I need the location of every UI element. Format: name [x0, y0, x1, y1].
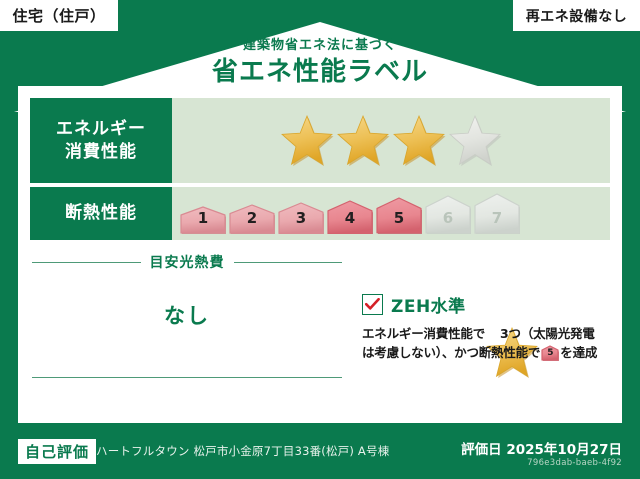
- insulation-performance-key: 断熱性能: [30, 187, 172, 240]
- star-4: [448, 114, 502, 168]
- insulation-grade-label: 4: [345, 209, 355, 234]
- energy-key-line1: エネルギー: [56, 118, 146, 141]
- star-rating: [280, 114, 502, 168]
- insulation-grade-3: 3: [278, 202, 324, 234]
- insulation-grade-label: 5: [394, 209, 404, 234]
- zeh-desc-part3: を達成: [560, 345, 597, 360]
- insulation-grade-2: 2: [229, 204, 275, 234]
- star-1: [280, 114, 334, 168]
- insulation-performance-value: 1234567: [172, 187, 610, 240]
- insulation-grade-label: 2: [247, 209, 257, 234]
- label-body-card: エネルギー 消費性能 断熱性能 1234567 目安光熱費 なし: [18, 86, 622, 423]
- utility-cost-caption-rule: 目安光熱費: [32, 252, 342, 272]
- property-name: ハートフルタウン 松戸市小金原7丁目33番(松戸) A号棟: [96, 443, 389, 459]
- utility-cost-block: 目安光熱費 なし: [32, 252, 342, 330]
- zeh-checkbox[interactable]: [362, 294, 383, 315]
- insulation-grade-scale: 1234567: [180, 193, 520, 234]
- star-2: [336, 114, 390, 168]
- inline-grade-badge-label: 5: [541, 347, 559, 361]
- dwelling-type-chip: 住宅（住戸）: [0, 0, 118, 31]
- inline-star-icon: [485, 326, 500, 341]
- document-id: 796e3dab-baeb-4f92: [527, 458, 622, 468]
- zeh-desc-part2: は考慮しない）、かつ断熱性能で: [362, 345, 540, 360]
- insulation-grade-1: 1: [180, 206, 226, 234]
- rule-right: [234, 262, 343, 263]
- insulation-grade-label: 3: [296, 209, 306, 234]
- self-evaluation-badge: 自己評価: [18, 439, 96, 464]
- check-icon: [365, 298, 380, 311]
- insulation-grade-6: 6: [425, 195, 471, 234]
- energy-performance-key: エネルギー 消費性能: [30, 98, 172, 183]
- insulation-performance-row: 断熱性能 1234567: [30, 187, 610, 240]
- insulation-grade-4: 4: [327, 200, 373, 235]
- energy-performance-label: 住宅（住戸） 再エネ設備なし 建築物省エネ法に基づく 省エネ性能ラベル エネルギ…: [0, 0, 640, 479]
- insulation-grade-label: 7: [492, 209, 502, 234]
- utility-cost-bottom-rule: [32, 377, 342, 378]
- label-footer: 自己評価 ハートフルタウン 松戸市小金原7丁目33番(松戸) A号棟 評価日 2…: [0, 423, 640, 479]
- insulation-grade-label: 1: [198, 209, 208, 234]
- inline-grade-badge: 5: [541, 345, 559, 361]
- insulation-grade-label: 6: [443, 209, 453, 234]
- energy-performance-value: [172, 98, 610, 183]
- insulation-grade-7: 7: [474, 193, 520, 234]
- utility-cost-caption: 目安光熱費: [150, 252, 225, 272]
- zeh-header: ZEH水準: [362, 292, 612, 317]
- star-3: [392, 114, 446, 168]
- energy-performance-row: エネルギー 消費性能: [30, 98, 610, 183]
- evaluation-date: 評価日 2025年10月27日: [461, 438, 622, 458]
- zeh-description: エネルギー消費性能で3つ（太陽光発電は考慮しない）、かつ断熱性能で5を達成: [362, 324, 612, 363]
- zeh-desc-part1: エネルギー消費性能で: [362, 326, 485, 341]
- zeh-title: ZEH水準: [391, 292, 466, 317]
- insulation-grade-5: 5: [376, 197, 422, 234]
- utility-cost-value: なし: [32, 300, 342, 330]
- zeh-desc-star-count: 3つ（太陽光発電: [500, 326, 595, 341]
- rule-left: [32, 262, 141, 263]
- renewable-equipment-chip: 再エネ設備なし: [513, 0, 640, 31]
- zeh-standard-block: ZEH水準 エネルギー消費性能で3つ（太陽光発電は考慮しない）、かつ断熱性能で5…: [362, 292, 612, 363]
- energy-key-line2: 消費性能: [56, 141, 146, 164]
